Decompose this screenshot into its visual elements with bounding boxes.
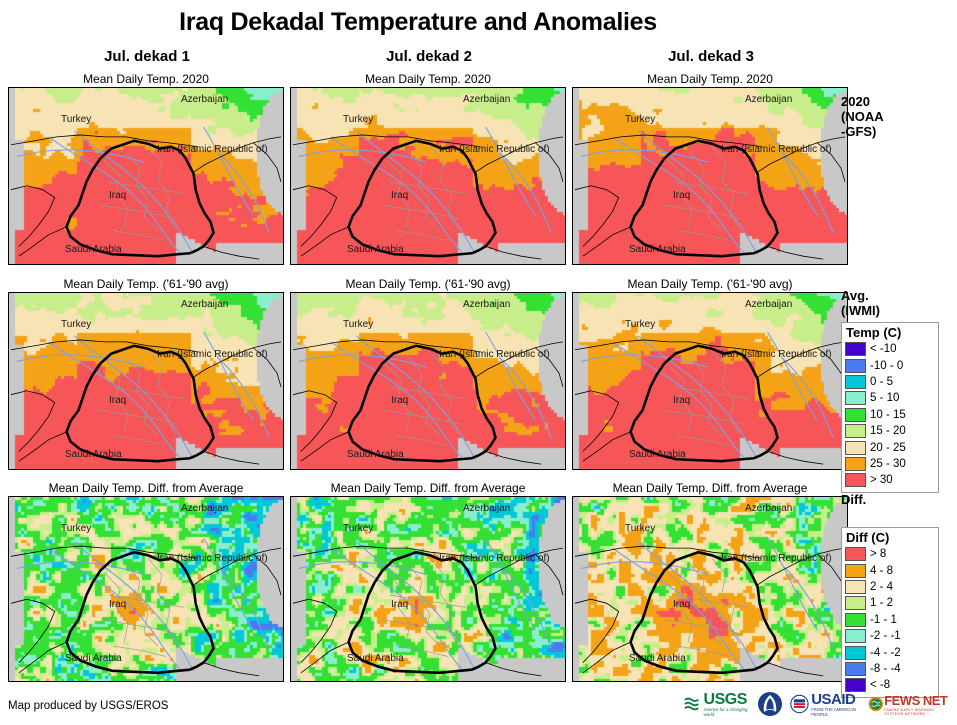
map-panel-subtitle: Mean Daily Temp. ('61-'90 avg)	[290, 277, 566, 292]
map-label-azerbaijan: Azerbaijan	[745, 299, 792, 310]
page-title: Iraq Dekadal Temperature and Anomalies	[0, 8, 836, 37]
map-label-azerbaijan: Azerbaijan	[745, 94, 792, 105]
map-label-iraq: Iraq	[109, 599, 126, 610]
temperature-legend-label: 0 - 5	[870, 376, 893, 388]
difference-legend-row: 2 - 4	[845, 579, 935, 595]
temperature-legend-title: Temp (C)	[846, 325, 935, 340]
map-canvas-container[interactable]: Azerbaijan Turkey Iran (Islamic Republic…	[290, 496, 566, 682]
difference-legend-row: 1 - 2	[845, 595, 935, 611]
fewsnet-tagline: FAMINE EARLY WARNING SYSTEMS NETWORK	[884, 708, 950, 716]
map-label-iran: Iran (Islamic Republic of)	[157, 553, 268, 564]
map-label-turkey: Turkey	[625, 319, 655, 330]
footer-credit: Map produced by USGS/EROS	[8, 700, 168, 712]
map-canvas-container[interactable]: Azerbaijan Turkey Iran (Islamic Republic…	[8, 496, 284, 682]
temperature-legend-swatch-icon	[845, 408, 866, 422]
map-panel-row1-col1: Mean Daily Temp. 2020	[8, 72, 284, 265]
map-label-iran: Iran (Islamic Republic of)	[439, 553, 550, 564]
noaa-seal-icon	[757, 691, 783, 717]
fewsnet-globe-icon	[868, 693, 884, 715]
difference-legend-swatch-icon	[845, 629, 866, 643]
map-panel-row2-col1: Mean Daily Temp. ('61-'90 avg)	[8, 277, 284, 470]
map-label-saudi: Saudi Arabia	[629, 244, 686, 255]
map-label-turkey: Turkey	[343, 523, 373, 534]
difference-legend-label: -1 - 1	[870, 614, 897, 626]
map-panel-row2-col2: Mean Daily Temp. ('61-'90 avg)	[290, 277, 566, 470]
map-vector-overlay	[573, 497, 847, 681]
difference-legend-row: -8 - -4	[845, 661, 935, 677]
difference-legend-swatch-icon	[845, 596, 866, 610]
temperature-legend-label: < -10	[870, 343, 897, 355]
map-label-azerbaijan: Azerbaijan	[745, 503, 792, 514]
usgs-logo-text: USGS	[704, 691, 747, 708]
map-canvas-container[interactable]: Azerbaijan Turkey Iran (Islamic Republic…	[290, 292, 566, 470]
difference-legend-label: 2 - 4	[870, 581, 893, 593]
temperature-legend-label: 15 - 20	[870, 425, 906, 437]
temperature-legend-row: 15 - 20	[845, 423, 935, 439]
column-header-dekad-3: Jul. dekad 3	[572, 48, 850, 65]
iraq-boundary	[67, 346, 214, 461]
map-label-saudi: Saudi Arabia	[65, 449, 122, 460]
iraq-boundary	[631, 141, 778, 256]
map-vector-overlay	[291, 88, 565, 264]
column-header-dekad-1: Jul. dekad 1	[8, 48, 286, 65]
map-label-iraq: Iraq	[673, 395, 690, 406]
column-header-dekad-2: Jul. dekad 2	[290, 48, 568, 65]
side-label-2020: 2020 (NOAA -GFS)	[841, 94, 884, 139]
difference-legend-row: -1 - 1	[845, 612, 935, 628]
map-vector-overlay	[573, 293, 847, 469]
iraq-boundary	[349, 141, 496, 256]
difference-legend-swatch-icon	[845, 646, 866, 660]
map-label-saudi: Saudi Arabia	[347, 449, 404, 460]
map-label-turkey: Turkey	[61, 319, 91, 330]
iraq-boundary	[631, 346, 778, 461]
iraq-boundary	[67, 141, 214, 256]
temperature-legend-label: -10 - 0	[870, 360, 903, 372]
map-label-turkey: Turkey	[625, 523, 655, 534]
map-canvas-container[interactable]: Azerbaijan Turkey Iran (Islamic Republic…	[572, 292, 848, 470]
usaid-seal-icon	[790, 692, 809, 716]
temperature-legend-swatch-icon	[845, 391, 866, 405]
temperature-legend-row: 0 - 5	[845, 374, 935, 390]
temperature-legend-row: 10 - 15	[845, 407, 935, 423]
difference-legend-label: > 8	[870, 548, 886, 560]
usaid-logo-text: USAID	[811, 691, 855, 708]
map-label-iran: Iran (Islamic Republic of)	[157, 349, 268, 360]
map-label-saudi: Saudi Arabia	[629, 449, 686, 460]
map-panel-subtitle: Mean Daily Temp. 2020	[290, 72, 566, 87]
side-label-avg: Avg. (IWMI)	[841, 288, 880, 318]
map-panel-subtitle: Mean Daily Temp. Diff. from Average	[8, 481, 284, 496]
difference-legend-swatch-icon	[845, 662, 866, 676]
difference-legend-swatch-icon	[845, 547, 866, 561]
map-panel-row1-col3: Mean Daily Temp. 2020	[572, 72, 848, 265]
difference-legend-swatch-icon	[845, 613, 866, 627]
map-label-turkey: Turkey	[61, 523, 91, 534]
temperature-legend-row: 25 - 30	[845, 456, 935, 472]
map-panel-row3-col2: Mean Daily Temp. Diff. from Average	[290, 481, 566, 682]
map-label-azerbaijan: Azerbaijan	[463, 299, 510, 310]
map-canvas-container[interactable]: Azerbaijan Turkey Iran (Islamic Republic…	[8, 292, 284, 470]
map-label-iraq: Iraq	[673, 599, 690, 610]
map-label-azerbaijan: Azerbaijan	[181, 503, 228, 514]
temperature-legend-swatch-icon	[845, 342, 866, 356]
side-label-diff: Diff.	[841, 492, 866, 507]
difference-legend-title: Diff (C)	[846, 530, 935, 545]
map-canvas-container[interactable]: Azerbaijan Turkey Iran (Islamic Republic…	[290, 87, 566, 265]
map-canvas-container[interactable]: Azerbaijan Turkey Iran (Islamic Republic…	[572, 496, 848, 682]
usgs-wave-icon	[684, 694, 703, 714]
map-canvas-container[interactable]: Azerbaijan Turkey Iran (Islamic Republic…	[572, 87, 848, 265]
map-panel-row2-col3: Mean Daily Temp. ('61-'90 avg)	[572, 277, 848, 470]
temperature-legend-label: 25 - 30	[870, 458, 906, 470]
map-panel-subtitle: Mean Daily Temp. 2020	[8, 72, 284, 87]
map-label-azerbaijan: Azerbaijan	[181, 94, 228, 105]
iraq-boundary	[349, 346, 496, 461]
difference-legend-row: -2 - -1	[845, 628, 935, 644]
map-label-turkey: Turkey	[343, 114, 373, 125]
fewsnet-logo: FEWS NET FAMINE EARLY WARNING SYSTEMS NE…	[868, 690, 950, 718]
map-label-iran: Iran (Islamic Republic of)	[439, 144, 550, 155]
map-label-azerbaijan: Azerbaijan	[463, 503, 510, 514]
map-label-saudi: Saudi Arabia	[347, 653, 404, 664]
map-canvas-container[interactable]: Azerbaijan Turkey Iran (Islamic Republic…	[8, 87, 284, 265]
difference-legend-label: 1 - 2	[870, 597, 893, 609]
difference-legend-row: > 8	[845, 546, 935, 562]
map-label-iraq: Iraq	[109, 395, 126, 406]
map-vector-overlay	[291, 293, 565, 469]
map-vector-overlay	[573, 88, 847, 264]
map-label-turkey: Turkey	[625, 114, 655, 125]
temperature-legend-row: > 30	[845, 472, 935, 488]
map-panel-subtitle: Mean Daily Temp. Diff. from Average	[572, 481, 848, 496]
usaid-tagline: FROM THE AMERICAN PEOPLE	[811, 707, 860, 717]
map-label-iran: Iran (Islamic Republic of)	[439, 349, 550, 360]
map-panel-subtitle: Mean Daily Temp. 2020	[572, 72, 848, 87]
temperature-legend-swatch-icon	[845, 424, 866, 438]
temperature-legend-label: > 30	[870, 474, 893, 486]
usaid-logo: USAID FROM THE AMERICAN PEOPLE	[790, 690, 860, 718]
map-vector-overlay	[9, 293, 283, 469]
difference-legend-row: -4 - -2	[845, 644, 935, 660]
map-panel-row1-col2: Mean Daily Temp. 2020	[290, 72, 566, 265]
map-vector-overlay	[9, 88, 283, 264]
map-label-iran: Iran (Islamic Republic of)	[721, 553, 832, 564]
map-label-iraq: Iraq	[109, 190, 126, 201]
temperature-legend-label: 10 - 15	[870, 409, 906, 421]
map-vector-overlay	[291, 497, 565, 681]
temperature-legend-swatch-icon	[845, 359, 866, 373]
map-label-iran: Iran (Islamic Republic of)	[157, 144, 268, 155]
map-label-iran: Iran (Islamic Republic of)	[721, 349, 832, 360]
difference-legend-row: 4 - 8	[845, 562, 935, 578]
map-label-azerbaijan: Azerbaijan	[463, 94, 510, 105]
difference-legend-label: 4 - 8	[870, 565, 893, 577]
map-label-iraq: Iraq	[391, 599, 408, 610]
map-panel-subtitle: Mean Daily Temp. ('61-'90 avg)	[572, 277, 848, 292]
difference-legend-label: -8 - -4	[870, 663, 901, 675]
map-label-saudi: Saudi Arabia	[65, 244, 122, 255]
temperature-legend-swatch-icon	[845, 457, 866, 471]
map-label-saudi: Saudi Arabia	[347, 244, 404, 255]
map-panel-subtitle: Mean Daily Temp. ('61-'90 avg)	[8, 277, 284, 292]
map-label-saudi: Saudi Arabia	[629, 653, 686, 664]
temperature-legend-label: 5 - 10	[870, 392, 899, 404]
temperature-legend-swatch-icon	[845, 375, 866, 389]
map-panel-row3-col1: Mean Daily Temp. Diff. from Average	[8, 481, 284, 682]
map-label-iran: Iran (Islamic Republic of)	[721, 144, 832, 155]
map-label-turkey: Turkey	[343, 319, 373, 330]
temperature-legend-row: -10 - 0	[845, 357, 935, 373]
temperature-legend-label: 20 - 25	[870, 442, 906, 454]
difference-legend-swatch-icon	[845, 564, 866, 578]
fewsnet-logo-text: FEWS NET	[884, 693, 947, 708]
difference-legend-label: -2 - -1	[870, 630, 901, 642]
temperature-legend-row: 5 - 10	[845, 390, 935, 406]
map-label-azerbaijan: Azerbaijan	[181, 299, 228, 310]
map-vector-overlay	[9, 497, 283, 681]
temperature-legend-row: < -10	[845, 341, 935, 357]
noaa-logo	[757, 690, 783, 718]
temperature-legend-row: 20 - 25	[845, 439, 935, 455]
difference-legend: Diff (C) > 8 4 - 8 2 - 4 1 - 2 -1 - 1 -2…	[841, 527, 939, 698]
map-panel-row3-col3: Mean Daily Temp. Diff. from Average	[572, 481, 848, 682]
map-panel-subtitle: Mean Daily Temp. Diff. from Average	[290, 481, 566, 496]
temperature-legend-swatch-icon	[845, 473, 866, 487]
map-label-saudi: Saudi Arabia	[65, 653, 122, 664]
temperature-legend-swatch-icon	[845, 441, 866, 455]
usgs-logo: USGS science for a changing world	[684, 690, 750, 718]
difference-legend-swatch-icon	[845, 580, 866, 594]
agency-logos: USGS science for a changing world USAID …	[684, 689, 950, 719]
map-label-iraq: Iraq	[673, 190, 690, 201]
temperature-legend: Temp (C) < -10 -10 - 0 0 - 5 5 - 10 10 -…	[841, 322, 939, 493]
map-label-iraq: Iraq	[391, 395, 408, 406]
usgs-tagline: science for a changing world	[704, 707, 751, 717]
map-label-iraq: Iraq	[391, 190, 408, 201]
map-label-turkey: Turkey	[61, 114, 91, 125]
difference-legend-label: -4 - -2	[870, 647, 901, 659]
